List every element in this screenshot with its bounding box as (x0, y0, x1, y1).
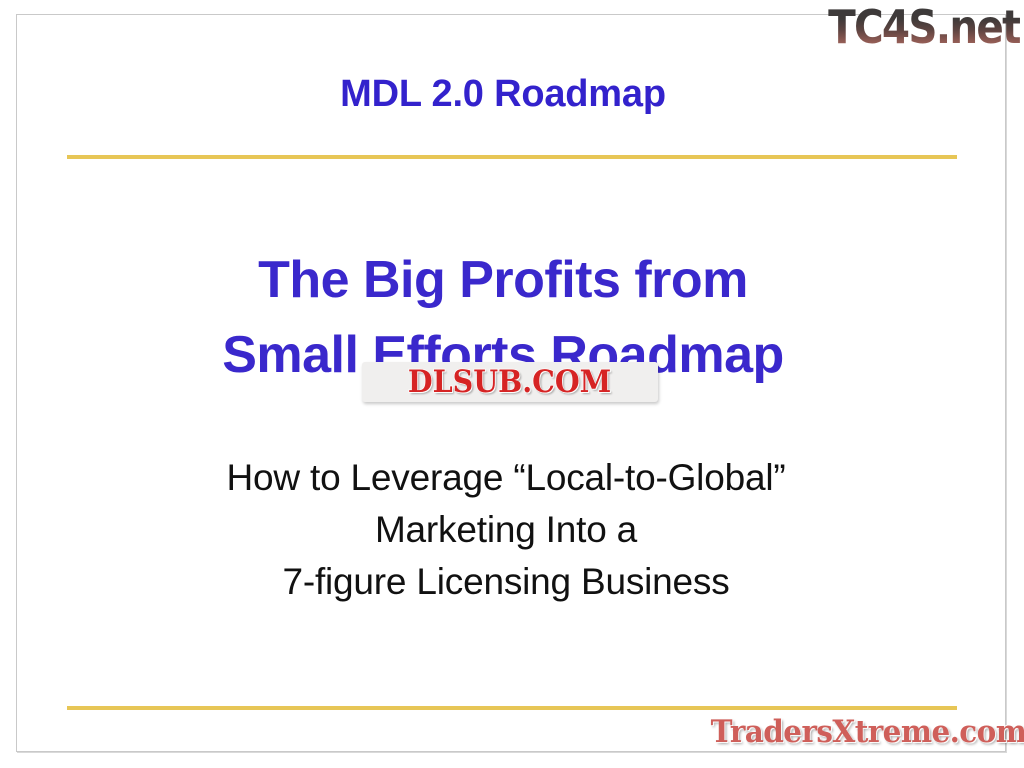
watermark-tc4s: TC4S.net (828, 2, 1020, 52)
watermark-dlsub-label: DLSUB.COM (408, 366, 611, 398)
page-title: MDL 2.0 Roadmap (0, 72, 1006, 116)
main-heading-line-1: The Big Profits from (0, 243, 1006, 318)
watermark-dlsub: DLSUB.COM (362, 362, 658, 402)
divider-bottom (67, 706, 957, 710)
divider-top (67, 155, 957, 159)
subtitle-line-1: How to Leverage “Local-to-Global” (0, 452, 1012, 504)
subtitle-line-2: Marketing Into a (0, 504, 1012, 556)
subtitle-line-3: 7-figure Licensing Business (0, 556, 1012, 608)
slide-root: MDL 2.0 Roadmap The Big Profits from Sma… (0, 0, 1024, 768)
watermark-tradersxtreme: TradersXtreme.com (710, 713, 1024, 751)
subtitle: How to Leverage “Local-to-Global” Market… (0, 452, 1012, 608)
